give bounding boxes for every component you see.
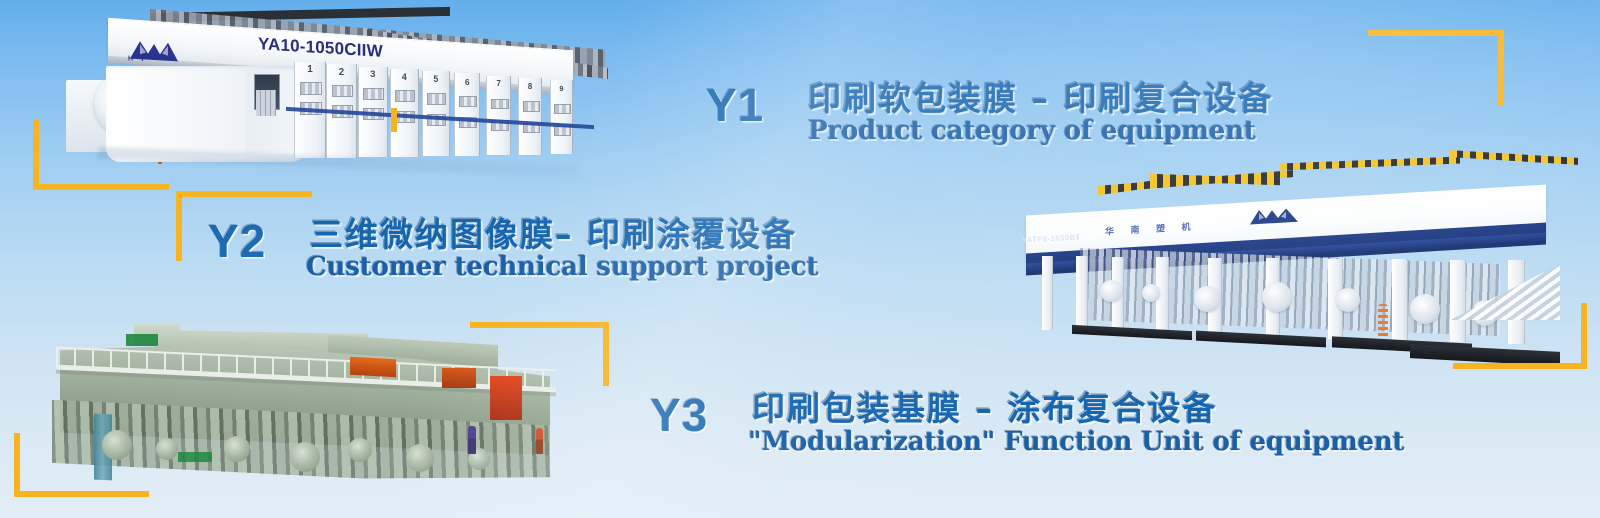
line-brand-logo-icon [1248,204,1304,227]
paper-machine-drum-4 [290,442,320,472]
bracket-y1-right [1368,30,1504,106]
bracket-y3-horizontal [470,322,609,328]
bracket-y2-right-vertical [1581,303,1587,369]
section-y3-title-cn: 印刷包装基膜 – 涂布复合设备 [752,382,1404,430]
bracket-y1 [33,120,169,190]
bracket-y2-right [1453,303,1587,369]
press-unit-7: 7 [486,76,511,156]
bracket-y1-vertical [33,120,39,190]
section-y2-code: Y2 [208,214,266,268]
line-base-frame-1 [1072,325,1192,340]
bracket-y1-right-vertical [1498,30,1504,106]
safety-railing-low-left [1098,180,1158,195]
press-unit-number: 8 [528,82,532,91]
press-brand-label: HY [128,55,152,63]
press-unit-number: 3 [370,69,375,79]
line-drum-6 [1410,294,1440,324]
section-y1-code: Y1 [706,78,764,132]
safety-railing-right [1450,150,1578,165]
press-unit-number: 2 [339,67,344,78]
press-unit-number: 6 [465,77,470,87]
bracket-y1-horizontal [33,184,169,190]
line-base-frame-2 [1196,331,1326,348]
paper-machine-drum-6 [406,444,434,472]
section-y1-title-en: Product category of equipment [808,116,1273,146]
paper-machine-orange-unit-a [350,357,396,377]
press-unit-9: 9 [550,80,573,154]
press-unit-5: 5 [422,71,450,156]
section-y3-code: Y3 [650,388,708,442]
promo-banner: HY YA10-1050CIIW 123456789 华 南 塑 [0,0,1600,518]
press-unit-number: 9 [559,84,563,93]
paper-machine-green-detail [178,452,212,462]
bracket-y3-vertical [603,322,609,386]
bracket-y3-left [14,433,149,497]
line-drum-3 [1194,286,1220,312]
press-unit-gauge [459,96,478,107]
section-y3-title-en: "Modularization" Function Unit of equipm… [748,427,1404,457]
section-y2-title-cn: 三维微纳图像膜– 印刷涂覆设备 [310,208,818,256]
press-unit-8: 8 [518,78,542,155]
line-orange-coil [1378,304,1388,342]
press-unit-number: 1 [307,64,313,75]
bracket-y2-vertical [176,191,182,261]
operator-figure-a [468,426,476,454]
bracket-y3 [470,322,609,386]
press-unit-number: 4 [402,72,407,82]
press-yellow-marker [391,108,397,132]
press-unit-number: 5 [433,74,438,84]
bracket-y1-right-horizontal [1368,30,1504,36]
press-unit-gauge [491,99,509,110]
section-y1-title-cn: 印刷软包装膜 – 印刷复合设备 [808,72,1273,120]
paper-machine-drum-5 [348,438,372,462]
press-unit-gauge [395,90,415,102]
line-drum-5 [1336,288,1360,312]
bracket-y2-right-horizontal [1453,363,1587,369]
paper-machine-drum-2 [156,438,178,460]
line-drum-2 [1142,284,1160,302]
bracket-y3-left-vertical [14,433,20,497]
line-drum-4 [1262,282,1292,312]
line-column-2 [1076,256,1088,331]
section-y2-title-en: Customer technical support project [306,252,818,282]
safety-railing-center [1280,157,1460,171]
operator-figure-b [536,428,543,454]
line-column-8 [1392,259,1408,341]
line-column-1 [1042,256,1053,330]
line-drum-1 [1100,280,1122,302]
press-unit-gauge [300,82,322,95]
press-unit-gauge [523,101,540,111]
bracket-y3-left-horizontal [14,491,149,497]
press-unit-6: 6 [454,73,480,155]
press-unit-gauge [363,88,384,100]
press-unit-gauge [554,104,570,114]
press-unit-gauge [427,93,446,105]
press-keypad [256,90,276,116]
bracket-y2-horizontal [176,191,312,197]
press-unit-number: 7 [496,79,501,88]
press-unit-gauge [332,85,354,98]
paper-machine-drum-3 [224,436,250,462]
